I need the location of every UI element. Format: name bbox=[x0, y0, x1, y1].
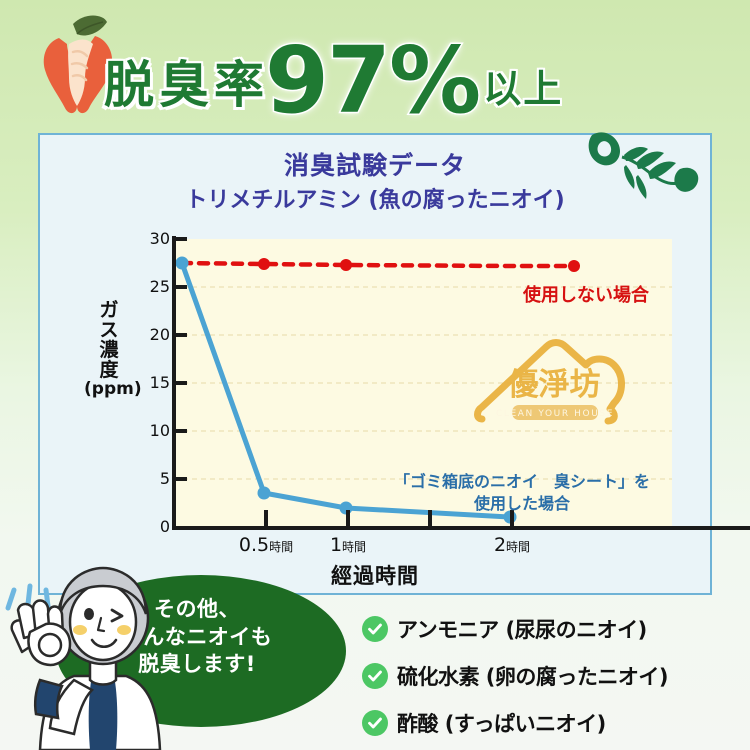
y-axis-title-char: ガ bbox=[84, 301, 134, 321]
x-tick-mark bbox=[264, 510, 268, 530]
y-tick-mark bbox=[174, 477, 187, 481]
x-tick-mark bbox=[346, 510, 350, 530]
y-axis-title-char: 度 bbox=[84, 361, 134, 381]
x-tick-number: 1 bbox=[330, 534, 342, 556]
checklist-item: 硫化水素 (卵の腐ったニオイ) bbox=[362, 653, 750, 698]
y-axis-title-char: ス bbox=[84, 321, 134, 341]
header-banner: 脱臭率 97% 以上 bbox=[0, 0, 750, 132]
headline-suffix: 以上 bbox=[483, 70, 563, 122]
legend-label-line1: 「ゴミ箱底のニオイ 臭シート」を bbox=[362, 471, 682, 493]
y-tick-label: 20 bbox=[136, 325, 170, 344]
legend-label-with-sheet: 「ゴミ箱底のニオイ 臭シート」を 使用した場合 bbox=[362, 471, 682, 514]
y-axis-title: ガ ス 濃 度 (ppm) bbox=[84, 301, 134, 399]
check-circle-icon bbox=[362, 616, 388, 642]
headline: 脱臭率 97% 以上 bbox=[104, 16, 740, 122]
checklist-label: 酢酸 (すっぱいニオイ) bbox=[397, 708, 606, 738]
y-tick-mark bbox=[174, 381, 187, 385]
y-tick-label: 10 bbox=[136, 421, 170, 440]
check-circle-icon bbox=[362, 710, 388, 736]
x-tick-label: 2時間 bbox=[457, 534, 567, 556]
woman-ok-gesture-illustration bbox=[0, 556, 200, 750]
y-tick-label: 30 bbox=[136, 229, 170, 248]
y-axis-title-char: 濃 bbox=[84, 341, 134, 361]
legend-label-line2: 使用した場合 bbox=[362, 493, 682, 515]
headline-number: 97% bbox=[265, 42, 479, 122]
x-tick-number: 0.5 bbox=[239, 534, 269, 556]
brand-watermark-logo: 優淨坊 CLEAN YOUR HOUSE bbox=[474, 335, 634, 435]
x-axis-line bbox=[172, 526, 750, 530]
headline-kanji: 脱臭率 bbox=[104, 60, 269, 122]
checklist-label: アンモニア (尿尿のニオイ) bbox=[397, 614, 647, 644]
watermark-brand: 優淨坊 bbox=[507, 367, 601, 403]
check-circle-icon bbox=[362, 663, 388, 689]
y-tick-label: 0 bbox=[136, 517, 170, 536]
legend-label-no-use: 使用しない場合 bbox=[523, 281, 649, 307]
x-tick-unit: 時間 bbox=[506, 540, 530, 554]
odor-checklist: アンモニア (尿尿のニオイ) 硫化水素 (卵の腐ったニオイ) 酢酸 (すっぱいニ… bbox=[362, 606, 750, 747]
y-tick-labels: 30 25 20 15 10 5 0 bbox=[130, 135, 170, 597]
y-tick-mark bbox=[174, 333, 187, 337]
checklist-item: アンモニア (尿尿のニオイ) bbox=[362, 606, 750, 651]
y-tick-label: 5 bbox=[136, 469, 170, 488]
y-tick-mark bbox=[174, 285, 187, 289]
infographic-page: 脱臭率 97% 以上 消臭試験データ トリメチルアミン (魚の腐ったニオイ) bbox=[0, 0, 750, 750]
x-tick-unit: 時間 bbox=[269, 540, 293, 554]
x-tick-number: 2 bbox=[494, 534, 506, 556]
y-tick-mark bbox=[174, 237, 187, 241]
checklist-label: 硫化水素 (卵の腐ったニオイ) bbox=[397, 661, 668, 691]
x-tick-label: 1時間 bbox=[293, 534, 403, 556]
chart-panel: 消臭試験データ トリメチルアミン (魚の腐ったニオイ) bbox=[38, 133, 712, 595]
y-axis-title-unit: (ppm) bbox=[84, 381, 134, 399]
y-tick-label: 25 bbox=[136, 277, 170, 296]
y-tick-mark bbox=[174, 429, 187, 433]
checklist-item: 酢酸 (すっぱいニオイ) bbox=[362, 700, 750, 745]
x-tick-unit: 時間 bbox=[342, 540, 366, 554]
watermark-tagline: CLEAN YOUR HOUSE bbox=[496, 409, 614, 419]
